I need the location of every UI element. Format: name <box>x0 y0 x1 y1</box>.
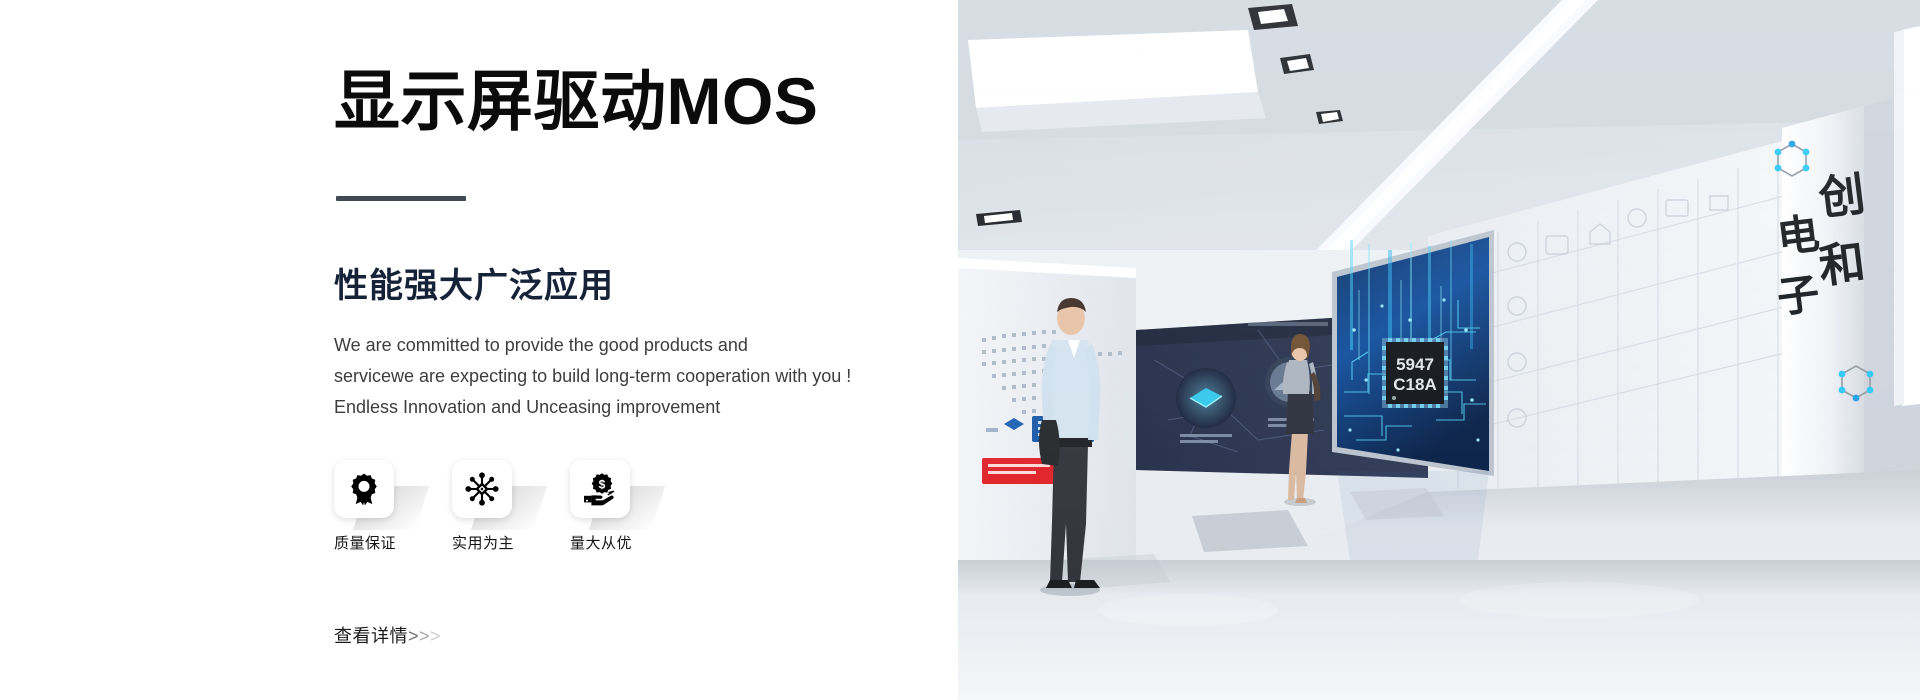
feature-item-practical: 实用为主 <box>452 460 582 553</box>
chevron-2-icon: > <box>419 626 430 646</box>
exhibition-hall-illustration: 5947 C18A 创 和 电 子 <box>958 0 1920 700</box>
description-line-1: We are committed to provide the good pro… <box>334 330 894 361</box>
feature-label: 量大从优 <box>570 532 700 553</box>
feature-label: 质量保证 <box>334 532 464 553</box>
feature-item-quality: 质量保证 <box>334 460 464 553</box>
hero-banner: 显示屏驱动MOS 性能强大广泛应用 We are committed to pr… <box>0 0 1920 700</box>
feature-label: 实用为主 <box>452 532 582 553</box>
view-details-link[interactable]: 查看详情>>> <box>334 622 441 648</box>
chevron-3-icon: > <box>430 626 441 646</box>
view-details-label: 查看详情 <box>334 626 408 646</box>
hand-money-icon: $ <box>570 460 630 518</box>
left-text-panel: 显示屏驱动MOS 性能强大广泛应用 We are committed to pr… <box>0 0 958 700</box>
svg-text:$: $ <box>599 477 606 491</box>
award-ribbon-icon <box>334 460 394 518</box>
chevron-1-icon: > <box>408 626 419 646</box>
description-line-3: Endless Innovation and Unceasing improve… <box>334 392 894 423</box>
page-title: 显示屏驱动MOS <box>334 62 818 140</box>
title-divider <box>336 196 466 201</box>
description-line-2: servicewe are expecting to build long-te… <box>334 361 894 392</box>
text-content: 显示屏驱动MOS 性能强大广泛应用 We are committed to pr… <box>334 0 934 700</box>
hero-photo: 5947 C18A 创 和 电 子 <box>958 0 1920 700</box>
feature-item-bulk-discount: $ 量大从优 <box>570 460 700 553</box>
network-hub-icon <box>452 460 512 518</box>
page-subtitle: 性能强大广泛应用 <box>334 264 614 308</box>
description-paragraph: We are committed to provide the good pro… <box>334 330 894 423</box>
